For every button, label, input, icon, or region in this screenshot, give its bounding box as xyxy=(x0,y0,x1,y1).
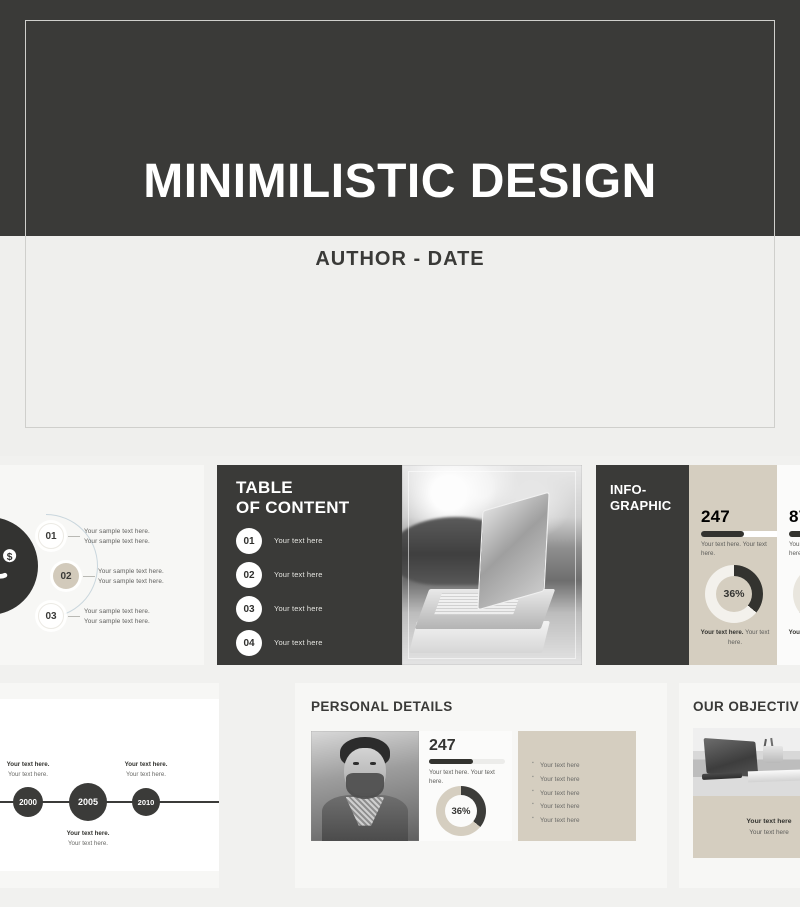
timeline-label-2005: Your text here. Your text here. xyxy=(40,829,136,849)
infographic-caption-bold-2: Your text here. xyxy=(789,629,800,636)
desk-notepad xyxy=(748,769,800,783)
personal-details-donut-label: 36% xyxy=(445,795,477,827)
toc-title: TABLE OF CONTENT xyxy=(236,478,350,518)
our-objective-caption-panel: Your text here Your text here xyxy=(693,796,800,858)
portrait-eye-right xyxy=(370,762,375,765)
infographic-progress-fill-1 xyxy=(701,531,744,537)
infographic-column-2: 87 Your text here. Your text here. 64% Y… xyxy=(777,465,800,665)
list-item: Your text here xyxy=(532,759,580,773)
timeline-node-2000[interactable]: 2000 xyxy=(13,787,43,817)
timeline-label-bold: Your text here. xyxy=(40,829,136,839)
infographic-column-1: 247 Your text here. Your text here. 36% … xyxy=(689,465,777,665)
infographic-donut-1: 36% xyxy=(705,565,763,623)
toc-title-line1: TABLE xyxy=(236,478,350,498)
infographic-dash-01 xyxy=(68,536,80,537)
infographic-caption-2: Your text here. Your text here. xyxy=(783,628,800,648)
portrait-eye-left xyxy=(353,762,358,765)
slide-thumb-circle-infographic[interactable]: $ 01 Your sample text here. Your sample … xyxy=(0,465,204,665)
slide-thumb-timeline[interactable]: 1995 Your text here. Your text here. 200… xyxy=(0,683,219,888)
timeline-node-2005[interactable]: 2005 xyxy=(69,783,107,821)
personal-details-text: Your text here. Your text here. xyxy=(429,768,505,787)
infographic-caption-bold-1: Your text here. xyxy=(701,629,744,636)
personal-details-progress-fill xyxy=(429,759,473,764)
timeline-node-2010[interactable]: 2010 xyxy=(132,788,160,816)
personal-details-progress-track xyxy=(429,759,505,764)
infographic-node-02[interactable]: 02 xyxy=(53,563,79,589)
infographic-title-line2: GRAPHIC xyxy=(610,498,671,514)
slide-thumb-our-objective[interactable]: OUR OBJECTIVE Your text here Your text h… xyxy=(679,683,800,888)
infographic-node-01[interactable]: 01 xyxy=(38,523,64,549)
our-objective-desk-photo xyxy=(693,728,800,796)
infographic-text-03-line2: Your sample text here. xyxy=(84,617,150,627)
infographic-dash-02 xyxy=(83,576,95,577)
infographic-text-02-line1: Your sample text here. xyxy=(98,567,164,577)
infographic-caption-1: Your text here. Your text here. xyxy=(695,628,775,648)
toc-laptop-photo xyxy=(402,465,582,665)
timeline-label-bold: Your text here. xyxy=(0,829,26,839)
timeline-label-text: Your text here. xyxy=(68,840,108,847)
timeline-label-1995: Your text here. Your text here. xyxy=(0,829,26,849)
toc-item-label: Your text here xyxy=(274,536,323,545)
infographic-title-line1: INFO- xyxy=(610,482,671,498)
toc-title-line2: OF CONTENT xyxy=(236,498,350,518)
personal-details-bullets-panel: Your text here Your text here Your text … xyxy=(518,731,636,841)
node-number: 03 xyxy=(45,611,56,622)
presentation-preview-page: MINIMILISTIC DESIGN AUTHOR - DATE $ 01 xyxy=(0,0,800,907)
infographic-progress-fill-2 xyxy=(789,531,800,537)
toc-item-number: 02 xyxy=(236,562,262,588)
desk-pen-cup xyxy=(763,746,783,764)
page-title: MINIMILISTIC DESIGN xyxy=(25,158,775,206)
infographic-dash-03 xyxy=(68,616,80,617)
timeline-node-year: 2000 xyxy=(19,798,37,807)
hero-subtitle: AUTHOR - DATE xyxy=(25,248,775,271)
timeline-node-year: 2005 xyxy=(78,797,98,807)
slide-thumb-infographic[interactable]: INFO- GRAPHIC 247 Your text here. Your t… xyxy=(596,465,800,665)
list-item: Your text here xyxy=(532,800,580,814)
toc-item-label: Your text here xyxy=(274,570,323,579)
infographic-node-03[interactable]: 03 xyxy=(38,603,64,629)
personal-details-donut: 36% xyxy=(436,786,486,836)
list-item: Your text here xyxy=(532,787,580,801)
timeline-card: 1995 Your text here. Your text here. 200… xyxy=(0,699,219,871)
timeline-label-2010: Your text here. Your text here. xyxy=(98,760,194,780)
infographic-text-2: Your text here. Your text here. xyxy=(789,540,800,559)
infographic-title: INFO- GRAPHIC xyxy=(610,482,671,513)
timeline-label-text: Your text here. xyxy=(8,771,48,778)
timeline-label-text: Your text here. xyxy=(126,771,166,778)
toc-item-label: Your text here xyxy=(274,638,323,647)
timeline-label-bold: Your text here. xyxy=(98,760,194,770)
infographic-text-02-line2: Your sample text here. xyxy=(98,577,164,587)
slide-thumb-table-of-content[interactable]: TABLE OF CONTENT 01 Your text here 02 Yo… xyxy=(217,465,582,665)
infographic-donut-2: 64% xyxy=(793,565,800,623)
infographic-text-03: Your sample text here. Your sample text … xyxy=(84,607,150,627)
personal-details-portrait-photo xyxy=(311,731,419,841)
infographic-text-01-line1: Your sample text here. xyxy=(84,527,150,537)
toc-item-label: Your text here xyxy=(274,604,323,613)
slide-thumb-personal-details[interactable]: PERSONAL DETAILS 247 Your text here. You… xyxy=(295,683,667,888)
list-item: Your text here xyxy=(532,773,580,787)
infographic-text-01: Your sample text here. Your sample text … xyxy=(84,527,150,547)
infographic-progress-track-2 xyxy=(789,531,800,537)
infographic-progress-track-1 xyxy=(701,531,783,537)
infographic-text-03-line1: Your sample text here. xyxy=(84,607,150,617)
svg-text:$: $ xyxy=(7,552,13,563)
infographic-text-01-line2: Your sample text here. xyxy=(84,537,150,547)
infographic-donut-label-1: 36% xyxy=(716,576,752,612)
node-number: 01 xyxy=(45,531,56,542)
our-objective-caption-text: Your text here xyxy=(749,829,789,836)
toc-item-number: 03 xyxy=(236,596,262,622)
hand-holding-gear-dollar-person-icon: $ xyxy=(0,543,18,587)
infographic-text-1: Your text here. Your text here. xyxy=(701,540,781,559)
personal-details-stat: 247 xyxy=(429,737,456,755)
hero-border-frame xyxy=(25,20,775,428)
timeline-label-2000: Your text here. Your text here. xyxy=(0,760,76,780)
toc-item-number: 04 xyxy=(236,630,262,656)
node-number: 02 xyxy=(60,571,71,582)
hero-title-slide[interactable]: MINIMILISTIC DESIGN AUTHOR - DATE xyxy=(0,0,800,456)
timeline-node-year: 2010 xyxy=(138,798,155,807)
timeline-label-bold: Your text here. xyxy=(0,760,76,770)
personal-details-stats-panel: 247 Your text here. Your text here. 36% xyxy=(419,731,512,841)
our-objective-caption-bold: Your text here xyxy=(693,816,800,828)
toc-photo-frame xyxy=(408,471,576,659)
personal-details-title: PERSONAL DETAILS xyxy=(311,699,453,714)
our-objective-title: OUR OBJECTIVE xyxy=(693,699,800,714)
infographic-stat-1: 247 xyxy=(701,507,730,527)
list-item: Your text here xyxy=(532,814,580,828)
toc-item-number: 01 xyxy=(236,528,262,554)
infographic-text-02: Your sample text here. Your sample text … xyxy=(98,567,164,587)
our-objective-caption: Your text here Your text here xyxy=(693,816,800,838)
infographic-stat-2: 87 xyxy=(789,507,800,527)
personal-details-bullet-list: Your text here Your text here Your text … xyxy=(532,759,580,828)
